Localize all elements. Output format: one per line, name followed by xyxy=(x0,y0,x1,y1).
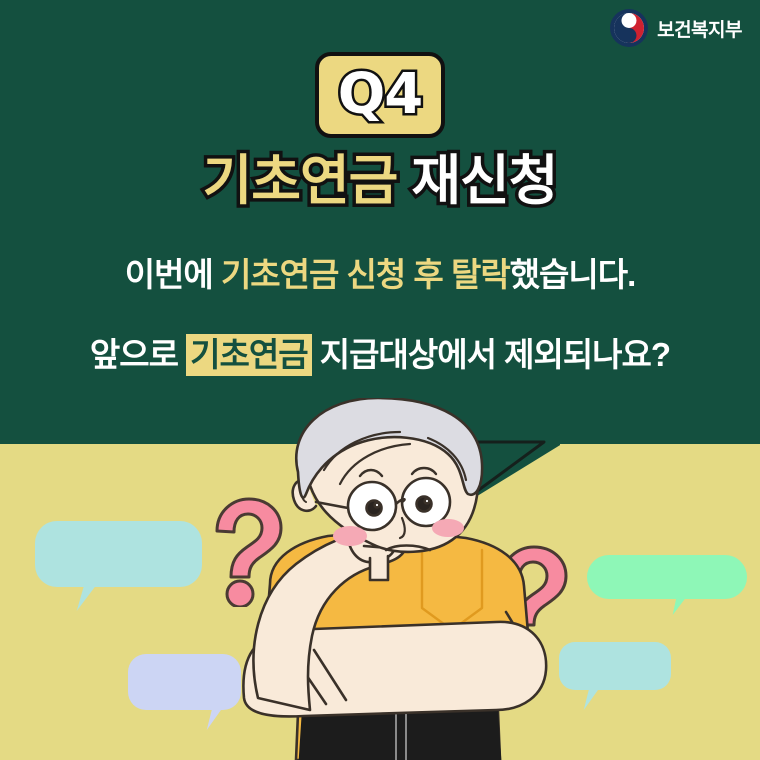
question-body-line-1: 이번에 기초연금 신청 후 탈락했습니다. xyxy=(0,248,760,296)
chat-bubble-tail xyxy=(673,593,690,615)
question-number-label: Q4 xyxy=(338,67,423,123)
page-title-gold: 기초연금 xyxy=(203,151,398,211)
ministry-logo: 보건복지부 xyxy=(609,8,742,48)
body-line-2-seg-plain-b: 지급대상에서 제외되나요? xyxy=(312,336,670,373)
question-body-line-2: 앞으로 기초연금 지급대상에서 제외되나요? xyxy=(0,328,760,376)
page-title-white: 재신청 xyxy=(411,151,557,211)
infographic-card: 보건복지부 Q4 기초연금 재신청 이번에 기초연금 신청 후 탈락했습니다. … xyxy=(0,0,760,760)
taegeuk-icon xyxy=(609,8,649,48)
chat-bubble-cyan-left xyxy=(35,521,202,587)
question-number-badge: Q4 xyxy=(315,52,445,138)
body-line-1-seg-plain-b: 했습니다. xyxy=(510,256,636,293)
body-line-1-seg-emphasis: 기초연금 신청 후 탈락 xyxy=(221,256,510,293)
elderly-person-thinking-illustration xyxy=(200,398,600,760)
body-line-2-seg-highlight: 기초연금 xyxy=(186,334,311,376)
body-line-1-seg-plain-a: 이번에 xyxy=(125,256,221,293)
body-line-2-seg-plain-a: 앞으로 xyxy=(90,336,186,373)
ministry-logo-text: 보건복지부 xyxy=(657,15,742,42)
chat-bubble-mint xyxy=(587,555,747,599)
chat-bubble-tail xyxy=(77,581,100,611)
page-title: 기초연금 재신청 xyxy=(0,152,760,211)
